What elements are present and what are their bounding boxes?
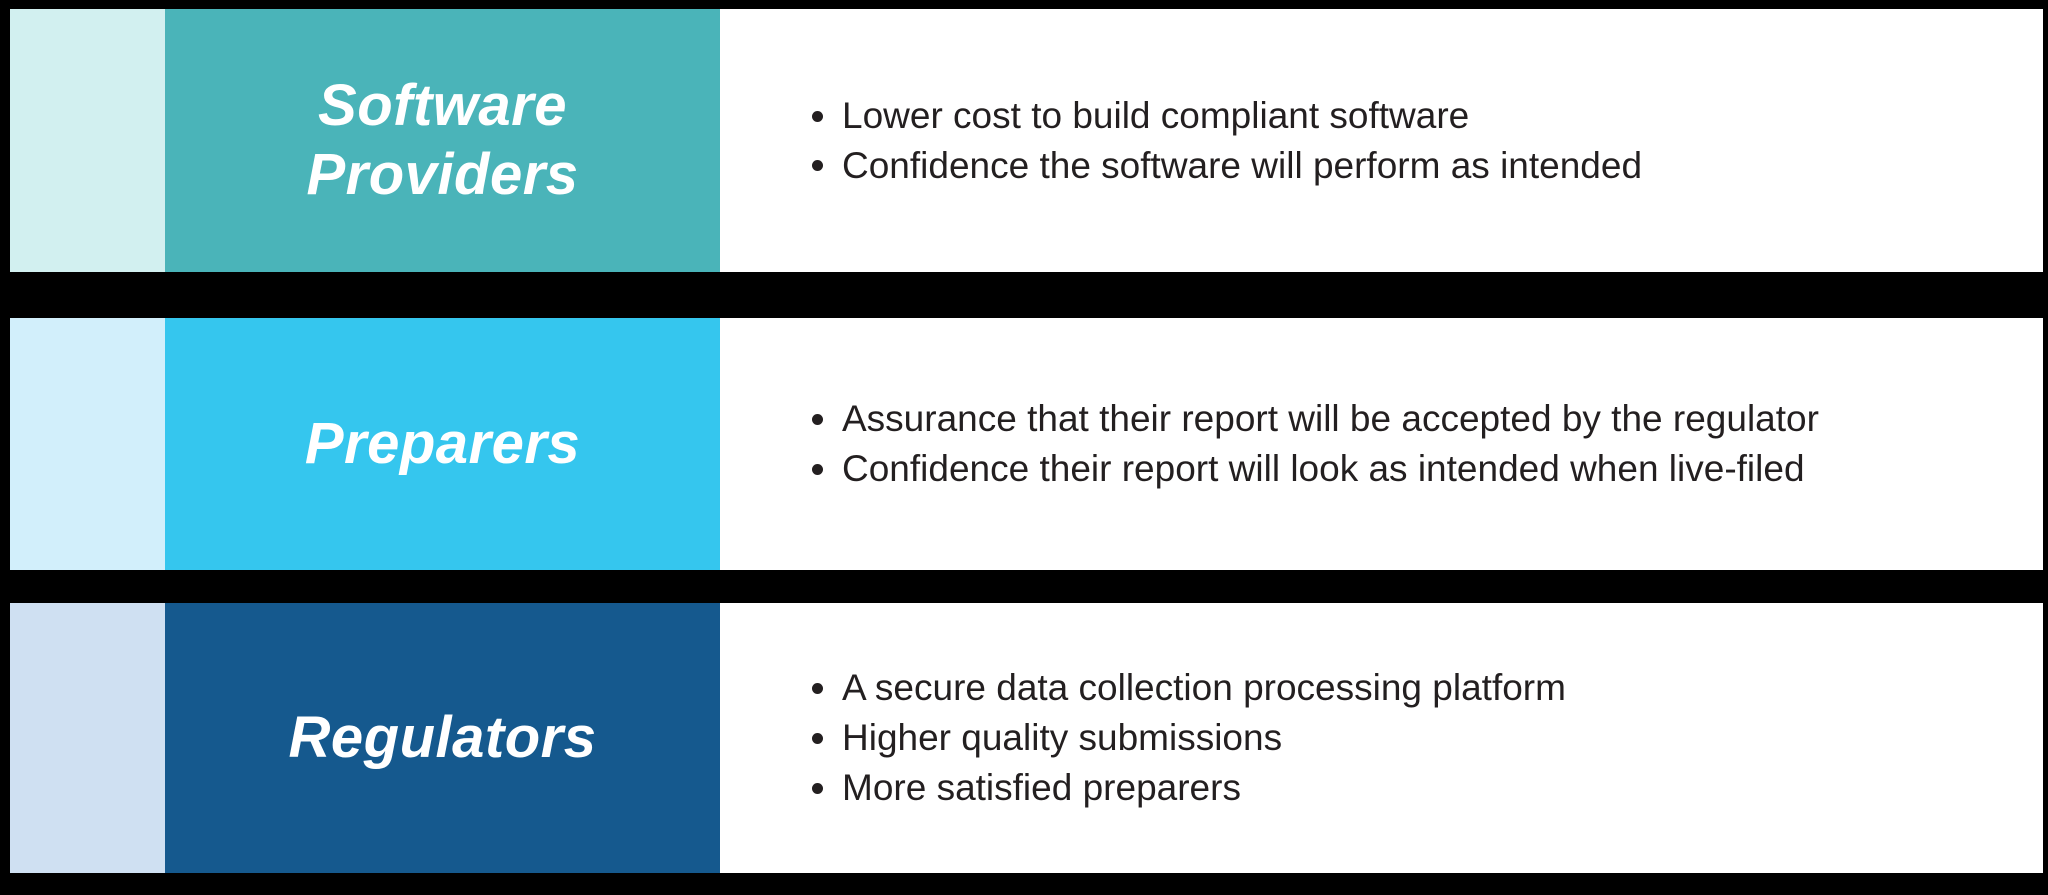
list-item-label: Confidence the software will perform as … [842, 145, 1642, 186]
accent-strip-preparers [10, 318, 165, 570]
list-item: A secure data collection processing plat… [812, 663, 2019, 713]
label-block-regulators: Regulators [165, 603, 720, 873]
label-block-software-providers: Software Providers [165, 9, 720, 272]
list-item-label: Confidence their report will look as int… [842, 448, 1805, 489]
list-item-label: Higher quality submissions [842, 717, 1282, 758]
list-item: Confidence their report will look as int… [812, 444, 2019, 494]
bullet-dot-icon [812, 111, 823, 122]
benefit-row-preparers: Preparers Assurance that their report wi… [10, 318, 2043, 570]
bullet-list-preparers: Assurance that their report will be acce… [812, 394, 2019, 494]
bullet-dot-icon [812, 733, 823, 744]
list-item: Higher quality submissions [812, 713, 2019, 763]
bullet-dot-icon [812, 414, 823, 425]
bullet-dot-icon [812, 683, 823, 694]
list-item: More satisfied preparers [812, 763, 2019, 813]
accent-strip-regulators [10, 603, 165, 873]
bullets-panel-software-providers: Lower cost to build compliant software C… [720, 9, 2043, 272]
list-item-label: Lower cost to build compliant software [842, 95, 1469, 136]
bullets-panel-preparers: Assurance that their report will be acce… [720, 318, 2043, 570]
row-label-software-providers: Software Providers [306, 72, 578, 209]
label-block-preparers: Preparers [165, 318, 720, 570]
bullet-dot-icon [812, 464, 823, 475]
bullet-dot-icon [812, 160, 823, 171]
list-item: Assurance that their report will be acce… [812, 394, 2019, 444]
benefits-table: Software Providers Lower cost to build c… [0, 0, 2048, 895]
list-item-label: More satisfied preparers [842, 767, 1241, 808]
bullet-list-software-providers: Lower cost to build compliant software C… [812, 91, 2019, 191]
list-item-label: Assurance that their report will be acce… [842, 398, 1819, 439]
benefit-row-software-providers: Software Providers Lower cost to build c… [10, 9, 2043, 272]
bullets-panel-regulators: A secure data collection processing plat… [720, 603, 2043, 873]
bullet-dot-icon [812, 783, 823, 794]
row-label-regulators: Regulators [289, 704, 597, 772]
list-item-label: A secure data collection processing plat… [842, 667, 1566, 708]
list-item: Lower cost to build compliant software [812, 91, 2019, 141]
row-label-preparers: Preparers [305, 410, 580, 478]
list-item: Confidence the software will perform as … [812, 141, 2019, 191]
bullet-list-regulators: A secure data collection processing plat… [812, 663, 2019, 812]
accent-strip-software-providers [10, 9, 165, 272]
benefit-row-regulators: Regulators A secure data collection proc… [10, 603, 2043, 873]
